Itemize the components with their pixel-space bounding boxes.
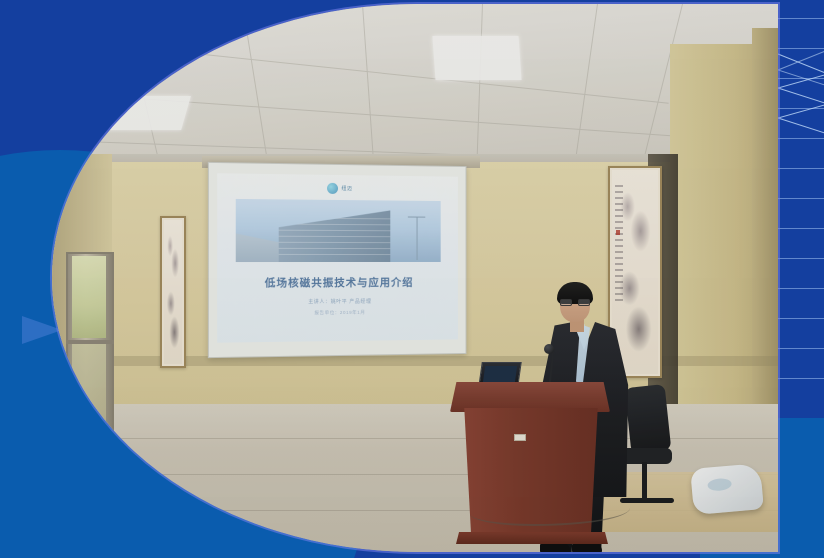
conference-photo: 纽迈 苏州纽迈分析仪器股份有限公司 低场核磁共振技术与应用介绍 主讲人：姚 xyxy=(52,4,778,552)
white-bag xyxy=(690,463,764,515)
slide-date-line: 报告单位：2019年1月 xyxy=(314,310,365,316)
scroll-seal xyxy=(616,230,620,235)
left-door-glass-lower xyxy=(72,344,106,442)
ceiling-light-panel xyxy=(432,36,521,80)
hanging-scroll-left xyxy=(160,216,186,368)
zigzag-accent-icon xyxy=(772,48,824,144)
slide-hero-image xyxy=(236,199,441,262)
slide-logo-text: 纽迈 xyxy=(341,185,352,192)
podium-top xyxy=(450,382,610,412)
projection-screen: 纽迈 苏州纽迈分析仪器股份有限公司 低场核磁共振技术与应用介绍 主讲人：姚 xyxy=(208,162,467,358)
slide-presenter-line: 主讲人：姚叶平 产品经理 xyxy=(308,298,371,305)
ceiling-light-panel xyxy=(85,96,191,130)
left-door-rail xyxy=(66,340,114,344)
office-chair-post xyxy=(642,462,647,502)
scroll-calligraphy xyxy=(615,185,623,306)
slide-title: 低场核磁共振技术与应用介绍 xyxy=(265,275,414,291)
office-chair-back xyxy=(625,384,672,454)
microphone-icon xyxy=(544,344,554,354)
left-door-glass-upper xyxy=(72,256,106,338)
slide-canvas: 纽迈 苏州纽迈分析仪器股份有限公司 低场核磁共振技术与应用介绍 主讲人：姚 xyxy=(0,0,824,558)
podium-base xyxy=(456,532,608,544)
slide-logo: 纽迈 xyxy=(328,183,353,194)
podium-nameplate xyxy=(514,434,526,441)
company-logo-icon xyxy=(328,183,339,194)
presentation-slide: 纽迈 苏州纽迈分析仪器股份有限公司 低场核磁共振技术与应用介绍 主讲人：姚 xyxy=(217,173,458,342)
presenter-glasses-icon xyxy=(560,299,590,306)
